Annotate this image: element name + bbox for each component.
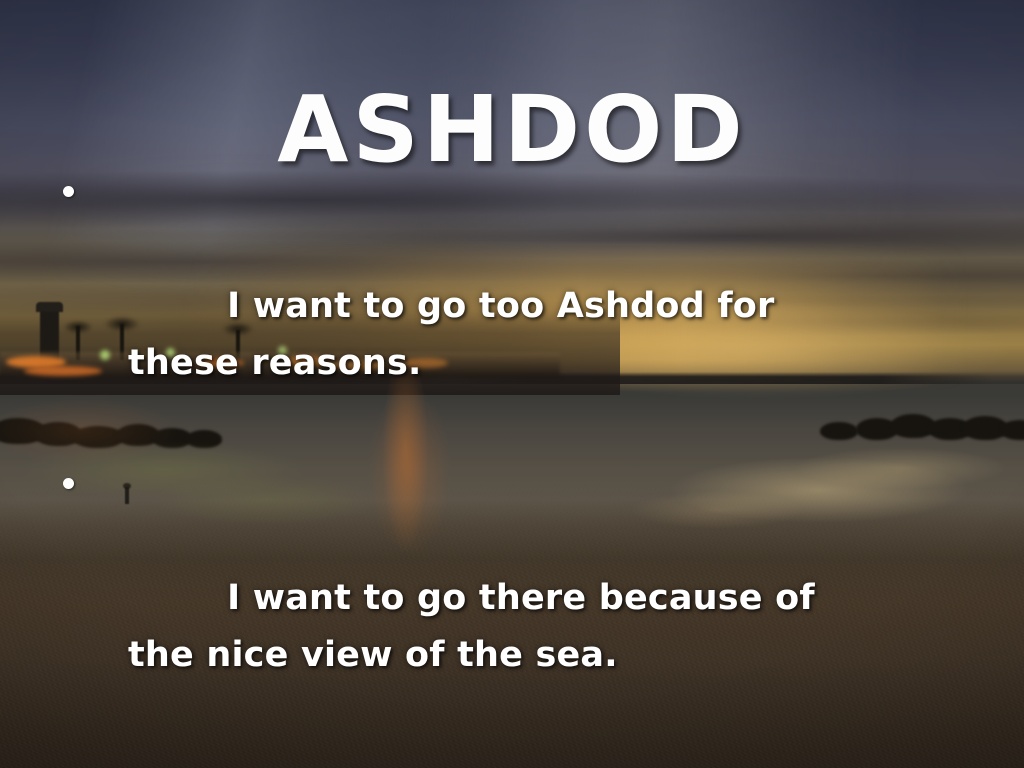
bullet-dot-icon (63, 478, 74, 489)
list-item: It has a spot where the pier is and it i… (50, 748, 890, 768)
bullet-list: I want to go too Ashdod for these reason… (50, 164, 890, 768)
slide-content: ASHDOD I want to go too Ashdod for these… (0, 0, 1024, 768)
bullet-dot-icon (63, 186, 74, 197)
presentation-slide: ASHDOD I want to go too Ashdod for these… (0, 0, 1024, 768)
list-item: I want to go too Ashdod for these reason… (50, 164, 890, 449)
list-item-text: I want to go there because of the nice v… (128, 578, 827, 675)
list-item: I want to go there because of the nice v… (50, 456, 890, 741)
list-item-text: I want to go too Ashdod for these reason… (128, 286, 787, 383)
